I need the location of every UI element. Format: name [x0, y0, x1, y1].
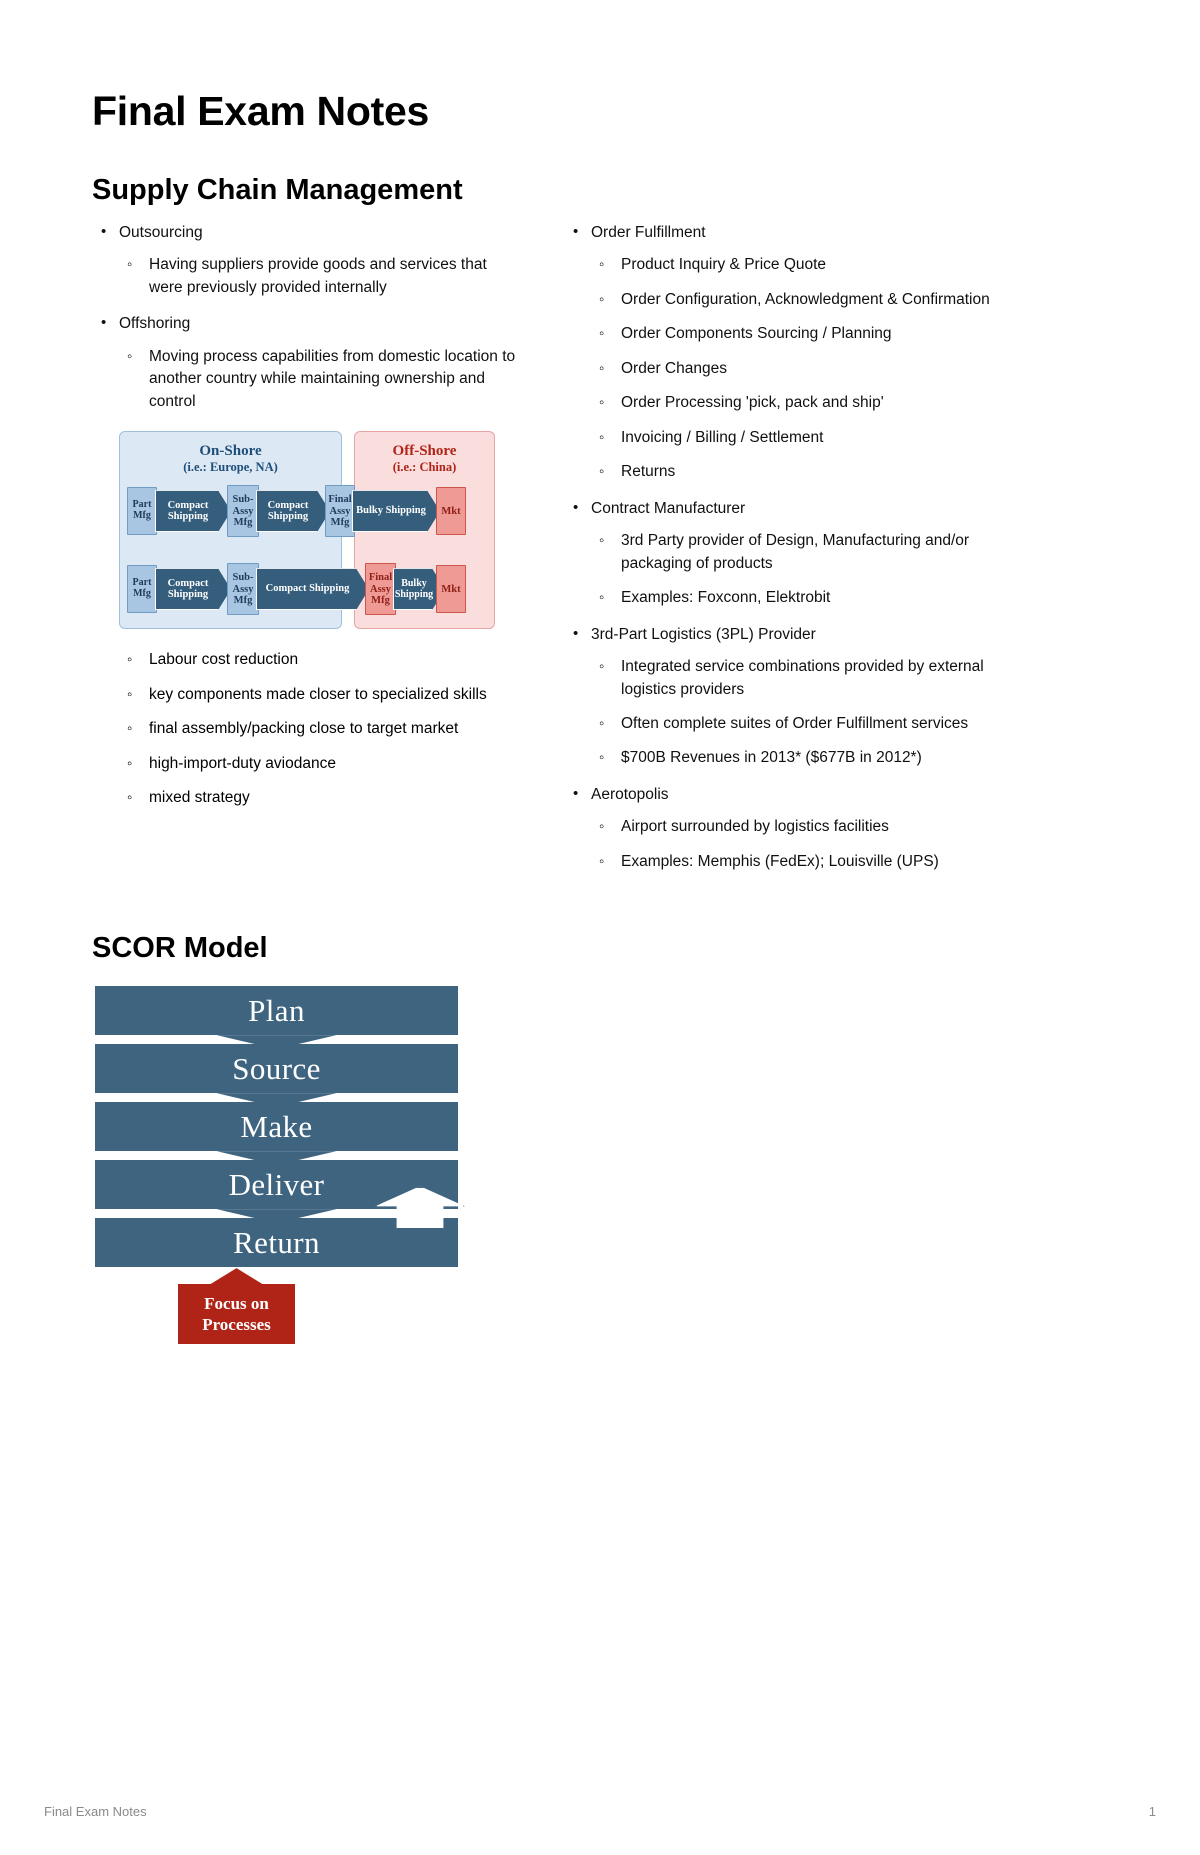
scor-step-label: Deliver — [229, 1167, 325, 1203]
left-column: Outsourcing Having suppliers provide goo… — [92, 222, 524, 887]
sub-list: Moving process capabilities from domesti… — [119, 346, 524, 413]
bullet-label: Offshoring — [119, 315, 190, 332]
bullet-label: Outsourcing — [119, 224, 203, 241]
bullet-label: Order Fulfillment — [591, 224, 706, 241]
arrow-compact-shipping-row2-a: Compact Shipping — [155, 568, 231, 610]
right-bullet-list: Order Fulfillment Product Inquiry & Pric… — [564, 222, 996, 873]
arrow-compact-shipping-row2-b: Compact Shipping — [256, 568, 369, 610]
arrow-up-icon — [211, 1268, 263, 1284]
section-heading-scor: SCOR Model — [92, 887, 1108, 966]
onshore-title: On-Shore — [120, 432, 341, 460]
list-item: Returns — [591, 461, 996, 483]
footer-title: Final Exam Notes — [44, 1804, 147, 1819]
list-item: Contract Manufacturer 3rd Party provider… — [564, 498, 996, 610]
page-title: Final Exam Notes — [92, 0, 1108, 135]
bullet-label: Contract Manufacturer — [591, 500, 745, 517]
list-item: Order Components Sourcing / Planning — [591, 323, 996, 345]
scor-step-make: Make — [95, 1102, 458, 1151]
list-item: Order Changes — [591, 358, 996, 380]
page-footer: Final Exam Notes 1 — [44, 1804, 1156, 1819]
document-page: Final Exam Notes Supply Chain Management… — [0, 0, 1200, 1855]
list-item: Order Fulfillment Product Inquiry & Pric… — [564, 222, 996, 484]
scor-step-label: Source — [232, 1051, 320, 1087]
page-content: Final Exam Notes Supply Chain Management… — [92, 0, 1108, 1344]
sub-list: Integrated service combinations provided… — [591, 656, 996, 770]
sub-list: Having suppliers provide goods and servi… — [119, 254, 524, 299]
list-item: mixed strategy — [119, 787, 524, 809]
list-item: 3rd Party provider of Design, Manufactur… — [591, 530, 996, 575]
scor-step-plan: Plan — [95, 986, 458, 1035]
list-item: Offshoring Moving process capabilities f… — [92, 313, 524, 413]
focus-on-processes-callout: Focus on Processes — [178, 1284, 295, 1344]
scor-step-label: Plan — [248, 993, 305, 1029]
list-item: Outsourcing Having suppliers provide goo… — [92, 222, 524, 299]
list-item: Labour cost reduction — [119, 649, 524, 671]
list-item: Product Inquiry & Price Quote — [591, 254, 996, 276]
scor-step-label: Make — [240, 1109, 312, 1145]
scor-step-label: Return — [233, 1225, 320, 1261]
right-column: Order Fulfillment Product Inquiry & Pric… — [564, 222, 996, 887]
list-item: Airport surrounded by logistics faciliti… — [591, 816, 996, 838]
section-heading-supply-chain: Supply Chain Management — [92, 135, 1108, 208]
node-mkt-row2: Mkt — [436, 565, 466, 613]
onshore-offshore-diagram: On-Shore (i.e.: Europe, NA) Off-Shore (i… — [119, 431, 495, 631]
offshoring-benefits-list: Labour cost reduction key components mad… — [119, 649, 524, 809]
list-item: final assembly/packing close to target m… — [119, 718, 524, 740]
left-bullet-list: Outsourcing Having suppliers provide goo… — [92, 222, 524, 413]
node-part-mfg-row2: Part Mfg — [127, 565, 157, 613]
bullet-label: 3rd-Part Logistics (3PL) Provider — [591, 626, 816, 643]
offshore-subtitle: (i.e.: China) — [355, 460, 494, 475]
node-sub-assy-row2: Sub-Assy Mfg — [227, 563, 259, 615]
sub-list: Airport surrounded by logistics faciliti… — [591, 816, 996, 873]
list-item: $700B Revenues in 2013* ($677B in 2012*) — [591, 747, 996, 769]
list-item: Integrated service combinations provided… — [591, 656, 996, 701]
list-item: Invoicing / Billing / Settlement — [591, 427, 996, 449]
scor-step-source: Source — [95, 1044, 458, 1093]
list-item: high-import-duty aviodance — [119, 753, 524, 775]
scor-model-diagram: Plan Source Make Deliver Return — [95, 986, 465, 1344]
list-item: Order Configuration, Acknowledgment & Co… — [591, 289, 996, 311]
list-item: Aerotopolis Airport surrounded by logist… — [564, 784, 996, 873]
sub-list: 3rd Party provider of Design, Manufactur… — [591, 530, 996, 609]
list-item: Often complete suites of Order Fulfillme… — [591, 713, 996, 735]
offshore-title: Off-Shore — [355, 432, 494, 460]
bullet-label: Aerotopolis — [591, 786, 669, 803]
node-part-mfg-row1: Part Mfg — [127, 487, 157, 535]
node-final-assy-row1: Final Assy Mfg — [325, 485, 355, 537]
list-item: Having suppliers provide goods and servi… — [119, 254, 524, 299]
node-final-assy-row2: Final Assy Mfg — [365, 563, 396, 615]
node-mkt-row1: Mkt — [436, 487, 466, 535]
arrow-compact-shipping-row1-b: Compact Shipping — [256, 490, 330, 532]
arrow-bulky-shipping-row1: Bulky Shipping — [352, 490, 440, 532]
list-item: 3rd-Part Logistics (3PL) Provider Integr… — [564, 624, 996, 770]
list-item: Examples: Memphis (FedEx); Louisville (U… — [591, 851, 996, 873]
list-item: key components made closer to specialize… — [119, 684, 524, 706]
sub-list: Product Inquiry & Price Quote Order Conf… — [591, 254, 996, 483]
node-sub-assy-row1: Sub-Assy Mfg — [227, 485, 259, 537]
two-column-body: Outsourcing Having suppliers provide goo… — [92, 222, 1108, 887]
arrow-compact-shipping-row1-a: Compact Shipping — [155, 490, 231, 532]
onshore-subtitle: (i.e.: Europe, NA) — [120, 460, 341, 475]
list-item: Examples: Foxconn, Elektrobit — [591, 587, 996, 609]
callout-label: Focus on Processes — [178, 1293, 295, 1336]
list-item: Moving process capabilities from domesti… — [119, 346, 524, 413]
footer-page-number: 1 — [1149, 1804, 1156, 1819]
list-item: Order Processing 'pick, pack and ship' — [591, 392, 996, 414]
